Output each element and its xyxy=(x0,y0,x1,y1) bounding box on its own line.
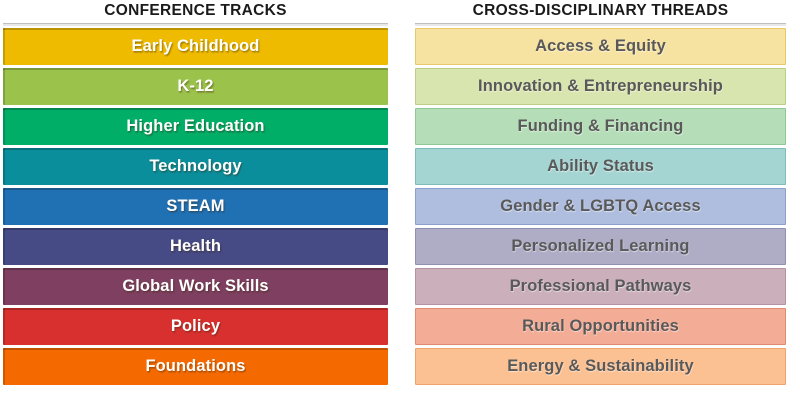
track-bar-steam[interactable]: STEAM xyxy=(3,188,388,225)
thread-label: Gender & LGBTQ Access xyxy=(500,197,700,216)
thread-bar-gender-lgbtq-access[interactable]: Gender & LGBTQ Access xyxy=(415,188,786,225)
cross-disciplinary-threads-divider xyxy=(415,23,786,26)
track-bar-global-work-skills[interactable]: Global Work Skills xyxy=(3,268,388,305)
track-bar-early-childhood[interactable]: Early Childhood xyxy=(3,28,388,65)
track-bar-k-12[interactable]: K-12 xyxy=(3,68,388,105)
track-label: Health xyxy=(170,237,221,256)
conference-tracks-divider xyxy=(3,23,388,26)
thread-label: Funding & Financing xyxy=(518,117,684,136)
thread-bar-rural-opportunities[interactable]: Rural Opportunities xyxy=(415,308,786,345)
track-label: STEAM xyxy=(166,197,224,216)
track-bar-technology[interactable]: Technology xyxy=(3,148,388,185)
thread-bar-innovation-entrepreneurship[interactable]: Innovation & Entrepreneurship xyxy=(415,68,786,105)
thread-label: Ability Status xyxy=(547,157,654,176)
thread-bar-professional-pathways[interactable]: Professional Pathways xyxy=(415,268,786,305)
track-label: K-12 xyxy=(177,77,213,96)
cross-disciplinary-threads-column: CROSS-DISCIPLINARY THREADS Access & Equi… xyxy=(400,0,800,400)
thread-bar-personalized-learning[interactable]: Personalized Learning xyxy=(415,228,786,265)
thread-bar-energy-sustainability[interactable]: Energy & Sustainability xyxy=(415,348,786,385)
conference-tracks-column: CONFERENCE TRACKS Early Childhood K-12 H… xyxy=(0,0,400,400)
thread-label: Energy & Sustainability xyxy=(507,357,694,376)
track-label: Global Work Skills xyxy=(122,277,268,296)
conference-tracks-header: CONFERENCE TRACKS xyxy=(3,0,388,21)
thread-bar-funding-financing[interactable]: Funding & Financing xyxy=(415,108,786,145)
cross-disciplinary-threads-list: Access & Equity Innovation & Entrepreneu… xyxy=(415,28,786,385)
track-bar-health[interactable]: Health xyxy=(3,228,388,265)
thread-bar-ability-status[interactable]: Ability Status xyxy=(415,148,786,185)
track-label: Higher Education xyxy=(126,117,264,136)
track-label: Early Childhood xyxy=(131,37,259,56)
thread-label: Access & Equity xyxy=(535,37,666,56)
track-label: Foundations xyxy=(145,357,245,376)
track-threads-board: CONFERENCE TRACKS Early Childhood K-12 H… xyxy=(0,0,800,400)
cross-disciplinary-threads-header: CROSS-DISCIPLINARY THREADS xyxy=(415,0,786,21)
track-label: Technology xyxy=(149,157,241,176)
track-label: Policy xyxy=(171,317,220,336)
thread-label: Rural Opportunities xyxy=(522,317,679,336)
thread-label: Personalized Learning xyxy=(511,237,689,256)
track-bar-higher-education[interactable]: Higher Education xyxy=(3,108,388,145)
thread-label: Professional Pathways xyxy=(510,277,692,296)
conference-tracks-list: Early Childhood K-12 Higher Education Te… xyxy=(3,28,388,385)
track-bar-foundations[interactable]: Foundations xyxy=(3,348,388,385)
thread-label: Innovation & Entrepreneurship xyxy=(478,77,723,96)
track-bar-policy[interactable]: Policy xyxy=(3,308,388,345)
thread-bar-access-equity[interactable]: Access & Equity xyxy=(415,28,786,65)
